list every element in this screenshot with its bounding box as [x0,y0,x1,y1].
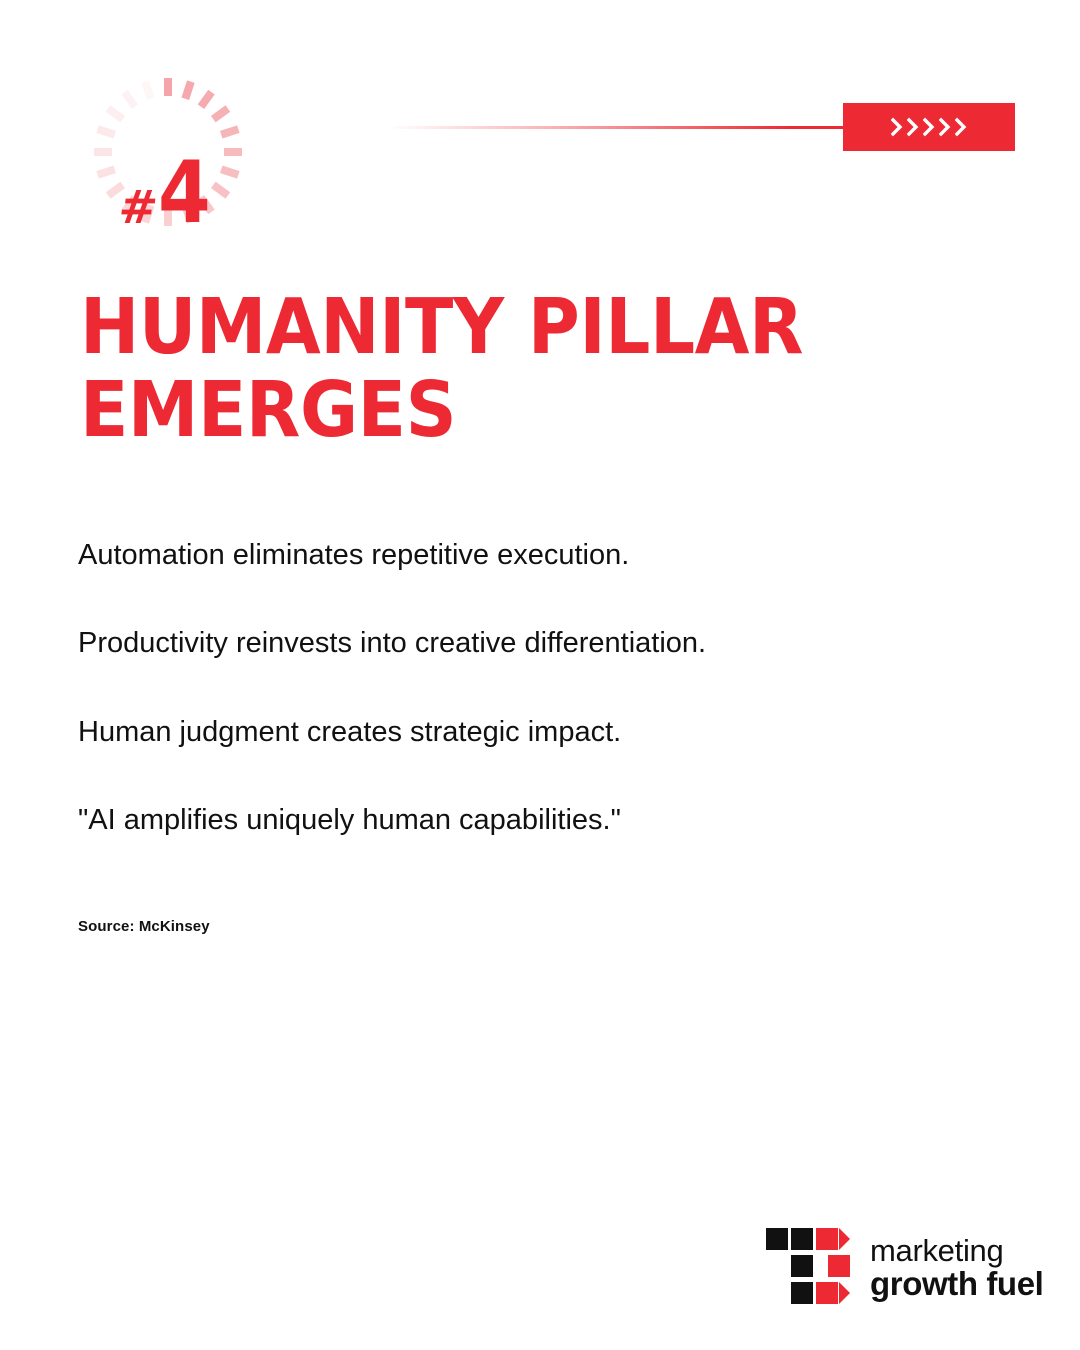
brand-name-bottom: growth fuel [870,1267,1043,1301]
body-line: Automation eliminates repetitive executi… [78,537,978,573]
brand-name-top: marketing [870,1235,1043,1267]
chevron-right-icon [939,117,951,137]
brand-logo: marketing growth fuel [766,1228,1043,1308]
chevron-right-icon [923,117,935,137]
chevron-right-icon [891,117,903,137]
body-line: "AI amplifies uniquely human capabilitie… [78,802,978,838]
source-attribution: Source: McKinsey [78,918,210,935]
body-line: Productivity reinvests into creative dif… [78,625,978,661]
page-title-line-2: EMERGES [80,369,908,452]
badge-number-value: 4 [158,155,210,232]
header-gradient-rule [388,126,846,129]
page-title: HUMANITY PILLAR EMERGES [80,286,908,452]
body-line: Human judgment creates strategic impact. [78,714,978,750]
chevron-right-icon [907,117,919,137]
chevron-banner [843,103,1015,151]
badge-hash-symbol: # [117,187,159,228]
chevron-right-icon [955,117,967,137]
slide-canvas: # 4 HUMANITY PILLAR EMERGES Automation e… [0,0,1080,1350]
body-copy-block: Automation eliminates repetitive executi… [78,537,978,838]
badge-number-group: # 4 [78,62,258,242]
page-title-line-1: HUMANITY PILLAR [80,286,908,369]
step-number-badge: # 4 [78,62,258,242]
brand-logo-text: marketing growth fuel [870,1235,1043,1302]
marketing-growth-fuel-logo-icon [766,1228,850,1308]
